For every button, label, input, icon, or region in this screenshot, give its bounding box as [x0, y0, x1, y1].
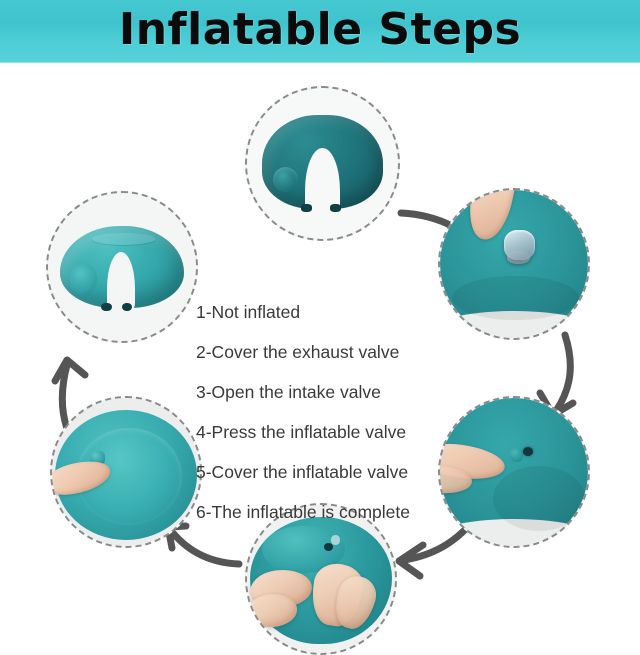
- step-node-open-intake-valve[interactable]: [438, 396, 590, 548]
- step-item-3: 3-Open the intake valve: [196, 382, 446, 402]
- photo-cover-exhaust-valve: [440, 190, 588, 338]
- steps-list: 1-Not inflated 2-Cover the exhaust valve…: [196, 302, 446, 522]
- pillow-clip-right: [330, 204, 341, 212]
- step-item-5: 5-Cover the inflatable valve: [196, 462, 446, 482]
- photo-inflated-pillow: [48, 193, 196, 341]
- valve-hole-icon: [324, 543, 333, 550]
- photo-flat-pillow: [247, 88, 398, 239]
- title-banner: Inflatable Steps: [0, 0, 640, 63]
- pillow-clip-left: [101, 303, 111, 312]
- step-node-inflatable-complete[interactable]: [46, 191, 198, 343]
- step-node-cover-inflatable-valve[interactable]: [50, 396, 202, 548]
- step-item-2: 2-Cover the exhaust valve: [196, 342, 446, 362]
- photo-cover-inflatable-valve: [52, 398, 200, 546]
- page-title: Inflatable Steps: [0, 0, 640, 63]
- valve-nub-icon: [510, 448, 523, 461]
- intake-valve-hole-icon: [523, 447, 533, 456]
- fabric-crease: [452, 276, 579, 320]
- fabric-crease: [493, 466, 585, 531]
- valve-nub-icon: [331, 535, 340, 545]
- step-node-press-inflatable-valve[interactable]: [245, 503, 397, 655]
- step-item-6: 6-The inflatable is complete: [196, 502, 446, 522]
- step-item-1: 1-Not inflated: [196, 302, 446, 322]
- pillow-clip-left: [301, 204, 312, 212]
- diagram-stage: .arrowpath { fill:none; stroke:#555555; …: [0, 63, 640, 640]
- photo-press-inflatable-valve: [247, 505, 395, 653]
- step-node-not-inflated[interactable]: [245, 86, 400, 241]
- valve-bump-icon: [69, 263, 97, 296]
- step-node-cover-exhaust-valve[interactable]: [438, 188, 590, 340]
- clear-valve-icon: [504, 230, 535, 260]
- step-item-4: 4-Press the inflatable valve: [196, 422, 446, 442]
- photo-open-intake-valve: [440, 398, 588, 546]
- arrow-bottom-to-left-lower: [168, 526, 239, 564]
- pillow-seam: [92, 233, 154, 245]
